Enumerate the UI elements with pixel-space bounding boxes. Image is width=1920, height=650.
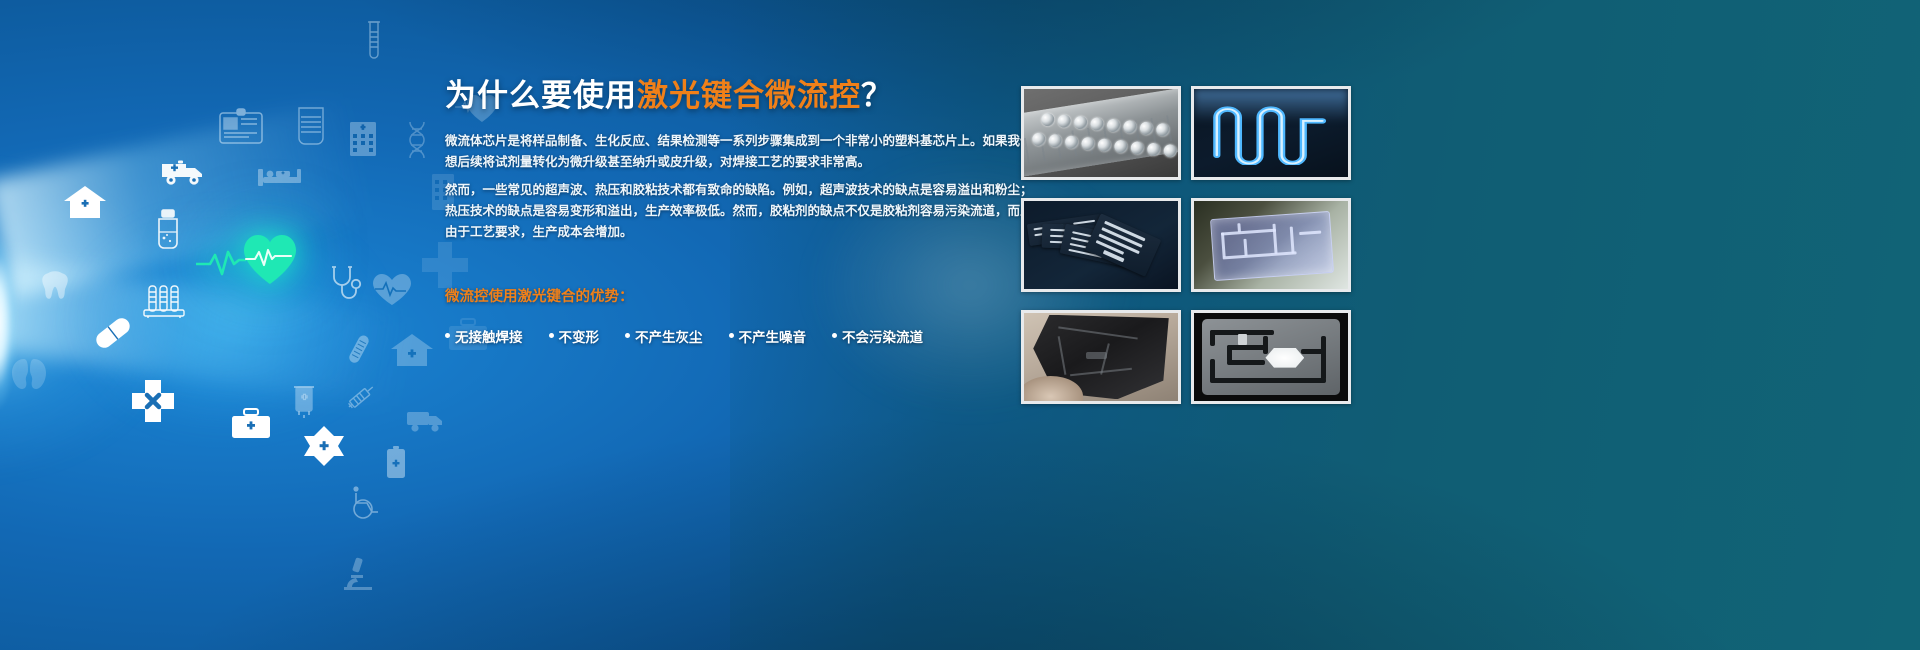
syringe-icon <box>343 383 381 409</box>
body-line-4: 热压技术的缺点是容易变形和溢出，生产效率极低。然而，胶粘剂的缺点不仅是胶粘剂容易… <box>445 201 965 222</box>
cross-diamond-icon <box>300 424 348 468</box>
gallery-image-2 <box>1191 86 1351 180</box>
dna-icon <box>405 120 429 160</box>
banner-stage: 为什么要使用激光键合微流控？ 微流体芯片是将样品制备、生化反应、结果检测等一系列… <box>0 0 1920 650</box>
wheelchair-icon <box>350 485 382 519</box>
body-line-5: 由于工艺要求，生产成本会增加。 <box>445 222 965 243</box>
bullet-dot-icon <box>729 333 734 338</box>
heart-ecg-icon <box>370 272 414 306</box>
page-title-question-mark: ？ <box>861 78 893 113</box>
iv-bag-icon <box>292 383 316 419</box>
clipboard-id-icon <box>219 108 263 144</box>
home-plus-icon <box>63 185 107 219</box>
battery-plus-icon <box>385 446 407 480</box>
bullet-dot-icon <box>625 333 630 338</box>
list-item: 不会污染流道 <box>832 326 923 346</box>
list-item: 不变形 <box>549 326 600 346</box>
heart-pulse-icon <box>196 224 316 291</box>
list-item-label: 无接触焊接 <box>455 326 523 346</box>
capsule-pill-icon <box>92 318 134 348</box>
gallery-image-6 <box>1191 310 1351 404</box>
list-item: 不产生灰尘 <box>625 326 703 346</box>
beaker-icon <box>296 105 326 147</box>
body-line-2: 想后续将试剂量转化为微升级甚至纳升或皮升级，对焊接工艺的要求非常高。 <box>445 152 965 173</box>
test-tube-icon <box>364 20 384 64</box>
bandage-cross-icon <box>130 378 176 424</box>
list-item: 无接触焊接 <box>445 326 523 346</box>
ambulance-icon <box>160 158 206 188</box>
bullet-dot-icon <box>832 333 837 338</box>
van-icon <box>406 408 444 434</box>
list-item-label: 不变形 <box>559 326 600 346</box>
bullet-dot-icon <box>549 333 554 338</box>
list-item-label: 不产生灰尘 <box>635 326 703 346</box>
gallery-image-1 <box>1021 86 1181 180</box>
gallery-image-3 <box>1021 198 1181 292</box>
page-title-lead: 为什么要使用 <box>445 78 637 113</box>
gallery-image-5 <box>1021 310 1181 404</box>
body-line-1: 微流体芯片是将样品制备、生化反应、结果检测等一系列步骤集成到一个非常小的塑料基芯… <box>445 131 965 152</box>
page-title-accent: 激光键合微流控 <box>637 78 861 113</box>
list-item-label: 不产生噪音 <box>739 326 807 346</box>
list-item-label: 不会污染流道 <box>842 326 923 346</box>
advantages-subheading: 微流控使用激光键合的优势： <box>445 285 965 306</box>
tooth-icon <box>41 270 69 300</box>
test-tube-rack-icon <box>143 284 185 318</box>
first-aid-kit-icon <box>231 408 271 440</box>
bullet-dot-icon <box>445 333 450 338</box>
stethoscope-icon <box>328 265 364 305</box>
hospital-bed-icon <box>257 163 303 189</box>
gallery-image-4 <box>1191 198 1351 292</box>
thermometer-icon <box>345 333 371 371</box>
advantages-list: 无接触焊接 不变形 不产生灰尘 不产生噪音 不会污染流道 <box>445 326 965 346</box>
house-cross-icon <box>390 332 434 368</box>
kidney-icon <box>6 355 52 395</box>
microscope-icon <box>340 555 376 591</box>
body-paragraphs: 微流体芯片是将样品制备、生化反应、结果检测等一系列步骤集成到一个非常小的塑料基芯… <box>445 131 965 243</box>
list-item: 不产生噪音 <box>729 326 807 346</box>
hospital-building-icon <box>348 118 378 158</box>
flask-icon <box>153 208 183 252</box>
product-image-gallery <box>1021 86 1351 404</box>
body-line-3: 然而，一些常见的超声波、热压和胶粘技术都有致命的缺陷。例如，超声波技术的缺点是容… <box>445 180 965 201</box>
text-content: 为什么要使用激光键合微流控？ 微流体芯片是将样品制备、生化反应、结果检测等一系列… <box>445 78 965 346</box>
page-title: 为什么要使用激光键合微流控？ <box>445 78 965 115</box>
